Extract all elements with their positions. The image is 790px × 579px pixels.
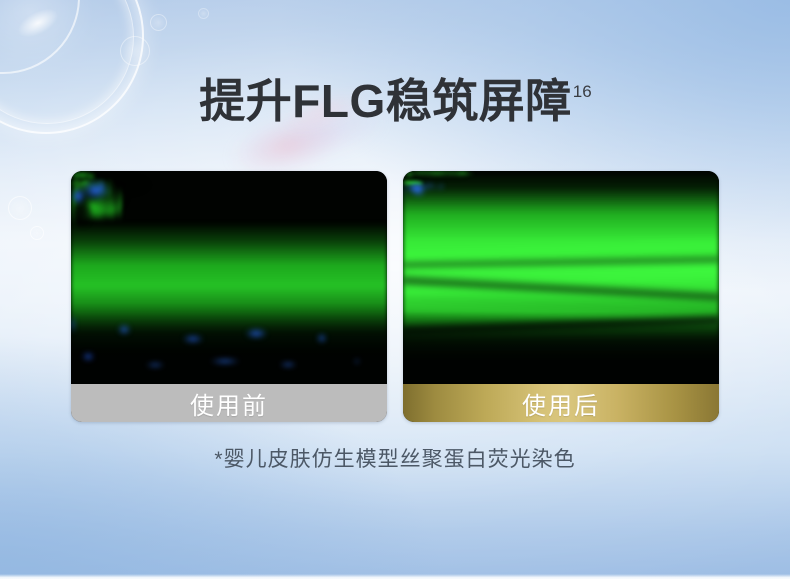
promo-slide: 提升FLG稳筑屏障16 使用前	[0, 0, 790, 579]
blue-nuclei-layer	[403, 171, 719, 384]
footnote-text: *婴儿皮肤仿生模型丝聚蛋白荧光染色	[0, 443, 790, 473]
bottom-edge-strip	[0, 574, 790, 579]
micrograph-before	[71, 171, 387, 384]
panel-label-bar-before: 使用前	[71, 384, 387, 422]
panel-after[interactable]: 使用后	[403, 171, 719, 422]
panel-label-after: 使用后	[522, 386, 600, 421]
panel-label-bar-after: 使用后	[403, 384, 719, 422]
panel-label-before: 使用前	[190, 386, 268, 421]
micrograph-after	[403, 171, 719, 384]
before-after-comparison: 使用前 使用后	[71, 171, 719, 422]
panel-before[interactable]: 使用前	[71, 171, 387, 422]
blue-nuclei-layer	[71, 171, 387, 384]
